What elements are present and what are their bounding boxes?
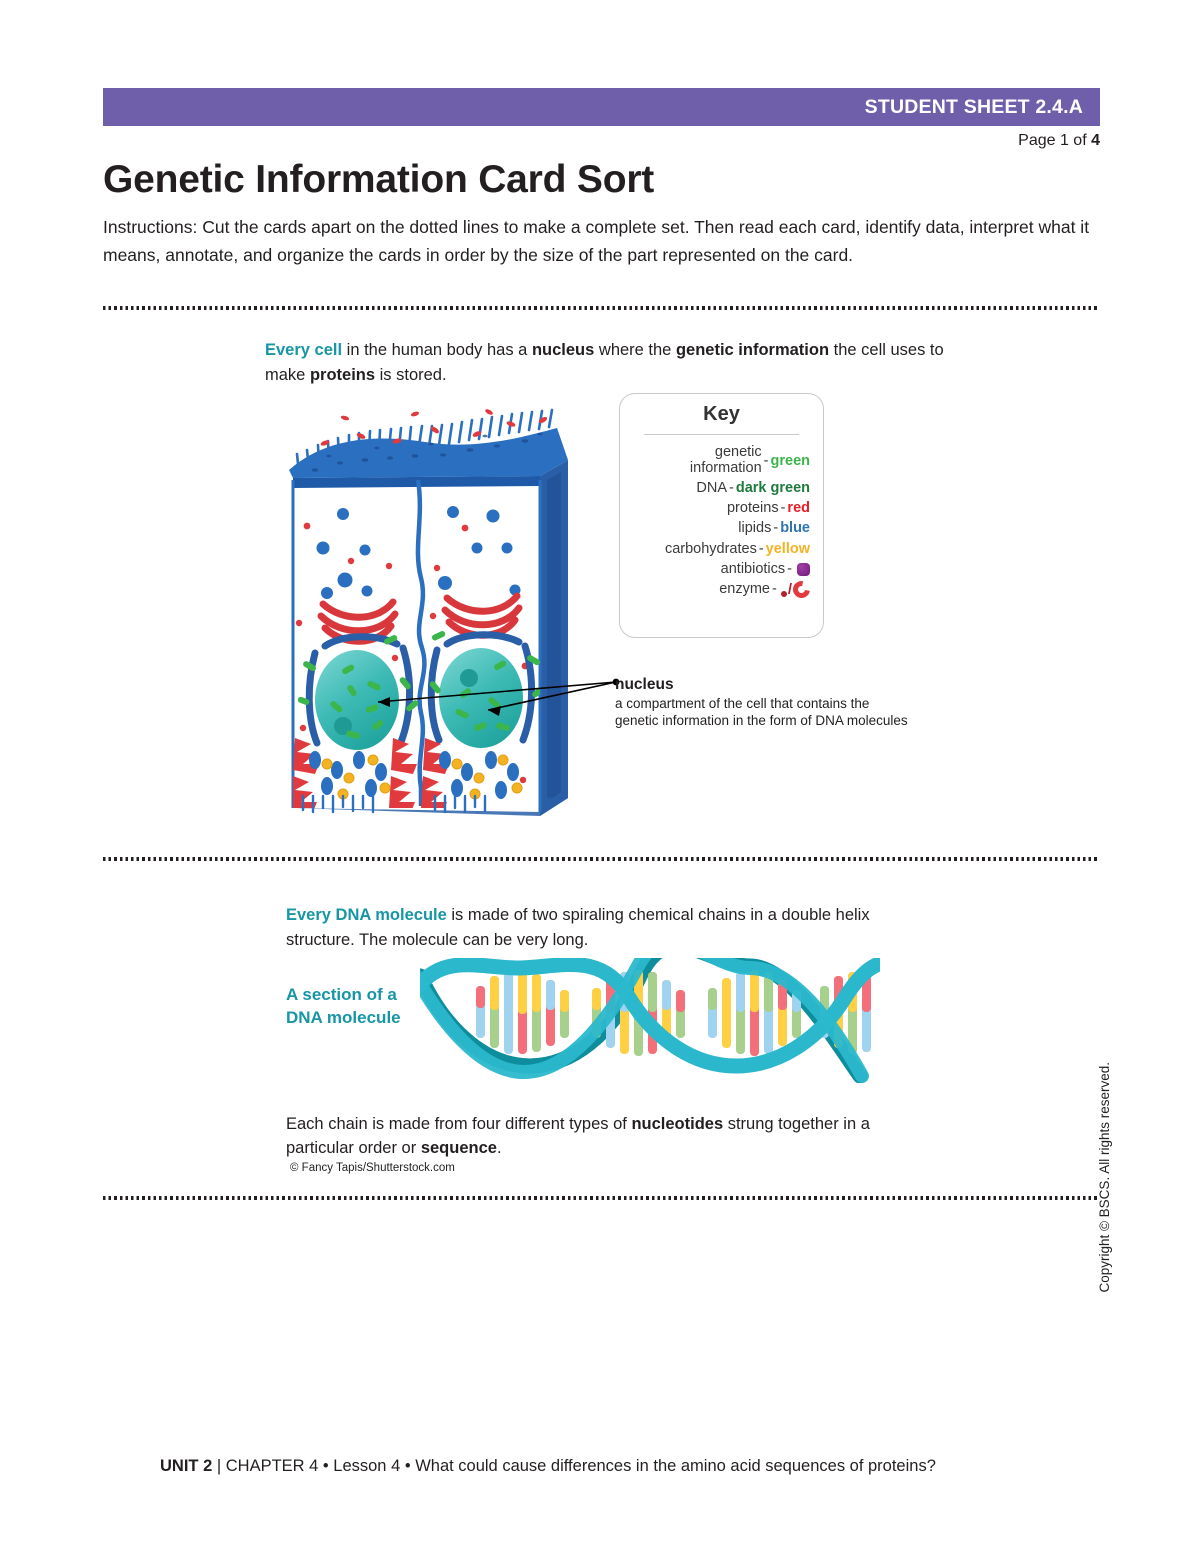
image-credit: © Fancy Tapis/Shutterstock.com [290, 1162, 455, 1174]
key-row-enzyme: enzyme - / [620, 581, 810, 599]
cut-line-divider-2 [103, 857, 1100, 861]
card1-text-seg4: is stored. [375, 366, 447, 384]
card1-term-nucleus: nucleus [532, 341, 594, 359]
key-term: carbohydrates [665, 541, 757, 558]
key-title: Key [620, 403, 823, 426]
card2-text2-seg1: Each chain is made from four different t… [286, 1115, 631, 1133]
key-term: lipids [738, 520, 771, 537]
key-term: DNA [696, 480, 727, 497]
card1-text-seg2: where the [594, 341, 676, 359]
key-value: yellow [766, 541, 810, 558]
enzyme-substrate-dot-icon [781, 591, 787, 597]
card2-text2-seg3: . [497, 1139, 502, 1157]
key-row-lipids: lipids - blue [620, 520, 810, 537]
key-dash: - [762, 453, 771, 470]
sheet-label: STUDENT SHEET 2.4.A [865, 96, 1083, 119]
nucleus-callout-arrows [340, 668, 620, 730]
antibiotic-chip-icon [797, 563, 810, 576]
card2-term-sequence: sequence [421, 1139, 497, 1157]
card2-lead-phrase: Every DNA molecule [286, 906, 447, 924]
card2-secondary-text: Each chain is made from four different t… [286, 1112, 906, 1161]
key-legend-box: Key genetic information - green DNA - da… [619, 393, 824, 638]
key-value: dark green [736, 480, 810, 497]
key-row-carbohydrates: carbohydrates - yellow [620, 541, 810, 558]
enzyme-c-shape-icon [790, 578, 814, 602]
key-row-proteins: proteins - red [620, 500, 810, 517]
footer: UNIT 2 | CHAPTER 4 • Lesson 4 • What cou… [160, 1457, 1120, 1476]
footer-separator: | [212, 1457, 225, 1475]
key-term: genetic information [670, 445, 762, 477]
instructions-text: Instructions: Cut the cards apart on the… [103, 213, 1103, 270]
card1-term-proteins: proteins [310, 366, 375, 384]
key-rows: genetic information - green DNA - dark g… [620, 445, 823, 598]
cut-line-divider-1 [103, 306, 1100, 310]
card2-lead-text: Every DNA molecule is made of two spiral… [286, 903, 926, 953]
footer-text: CHAPTER 4 • Lesson 4 • What could cause … [226, 1457, 936, 1475]
card1-text-seg1: in the human body has a [342, 341, 532, 359]
key-value: blue [780, 520, 810, 537]
footer-unit: UNIT 2 [160, 1457, 212, 1475]
page-number: Page 1 of 4 [1018, 132, 1100, 150]
enzyme-slash: / [788, 581, 792, 599]
page-number-value: 4 [1091, 132, 1100, 149]
key-row-antibiotics: antibiotics - [620, 561, 810, 578]
enzyme-icon: / [781, 581, 810, 599]
nucleus-definition-line-2: genetic information in the form of DNA m… [615, 712, 935, 729]
key-term: proteins [727, 500, 779, 517]
dna-section-label: A section of a DNA molecule [286, 983, 401, 1030]
dna-double-helix-icon [420, 958, 880, 1083]
page-title: Genetic Information Card Sort [103, 160, 654, 201]
card1-lead-phrase: Every cell [265, 341, 342, 359]
card1-lead-text: Every cell in the human body has a nucle… [265, 338, 955, 388]
key-dash: - [770, 581, 779, 598]
key-value: red [787, 500, 810, 517]
epithelial-cells-diagram-icon [285, 408, 577, 830]
nucleus-callout: nucleus a compartment of the cell that c… [615, 676, 935, 729]
key-dash: - [757, 541, 766, 558]
header-bar: STUDENT SHEET 2.4.A [103, 88, 1100, 126]
student-sheet-page: STUDENT SHEET 2.4.A Page 1 of 4 Genetic … [0, 0, 1200, 1553]
key-row-dna: DNA - dark green [620, 480, 810, 497]
card1-term-genetic-information: genetic information [676, 341, 829, 359]
key-dash: - [771, 520, 780, 537]
key-term: enzyme [719, 581, 770, 598]
nucleus-term: nucleus [615, 676, 935, 694]
card2-term-nucleotides: nucleotides [631, 1115, 723, 1133]
key-row-genetic-information: genetic information - green [620, 445, 810, 477]
key-divider [644, 434, 799, 435]
key-value: green [771, 453, 811, 470]
dna-section-label-line-1: A section of a [286, 983, 401, 1006]
copyright-sidebar: Copyright © BSCS. All rights reserved. [1097, 1062, 1112, 1293]
key-dash: - [785, 561, 794, 578]
dna-section-label-line-2: DNA molecule [286, 1006, 401, 1029]
nucleus-definition-line-1: a compartment of the cell that contains … [615, 695, 935, 712]
key-dash: - [779, 500, 788, 517]
nucleus-definition: a compartment of the cell that contains … [615, 695, 935, 729]
cut-line-divider-3 [103, 1196, 1100, 1200]
key-term: antibiotics [721, 561, 785, 578]
key-dash: - [727, 480, 736, 497]
page-number-prefix: Page 1 of [1018, 132, 1091, 149]
